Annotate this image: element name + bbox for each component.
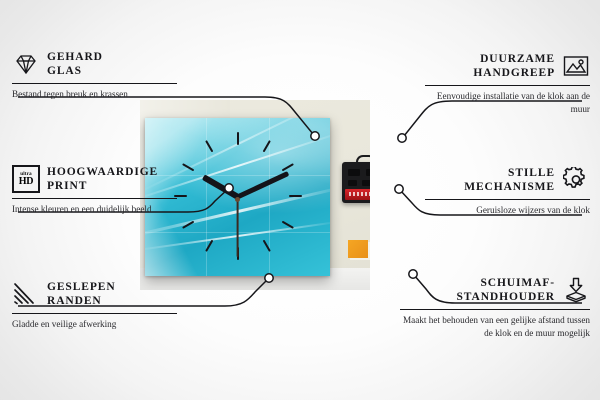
feature-geslepen-randen[interactable]: GESLEPENRANDEN Gladde en veilige afwerki… — [12, 280, 177, 331]
feature-title: GEHARDGLAS — [47, 50, 103, 79]
divider — [425, 199, 590, 200]
ultra-hd-icon: ultraHD — [12, 165, 40, 193]
feature-title: STILLEMECHANISME — [464, 166, 555, 195]
divider — [425, 85, 590, 86]
hanger-loop-icon — [356, 155, 370, 166]
feature-description: Eenvoudige installatie van de klok aan d… — [425, 90, 590, 115]
feature-description: Maakt het behouden van een gelijke afsta… — [400, 314, 590, 339]
divider — [12, 198, 177, 199]
feature-gehard-glas[interactable]: GEHARDGLAS Bestand tegen breuk en krasse… — [12, 50, 177, 101]
feature-description: Intense kleuren en een duidelijk beeld — [12, 203, 177, 215]
clock-movement — [342, 162, 370, 203]
feature-duurzame-handgreep[interactable]: DUURZAMEHANDGREEP Eenvoudige installatie… — [425, 52, 590, 115]
feature-title: DUURZAMEHANDGREEP — [473, 52, 555, 81]
feature-description: Gladde en veilige afwerking — [12, 318, 177, 330]
divider — [400, 309, 590, 310]
divider — [12, 83, 177, 84]
battery — [345, 189, 370, 200]
feature-title: HOOGWAARDIGEPRINT — [47, 165, 158, 194]
feature-description: Geruisloze wijzers van de klok — [425, 204, 590, 216]
foam-spacer-icon — [562, 276, 590, 304]
feature-title: GESLEPENRANDEN — [47, 280, 116, 309]
feature-stille-mechanisme[interactable]: STILLEMECHANISME Geruisloze wijzers van … — [425, 166, 590, 217]
bevelled-edge-icon — [12, 280, 40, 308]
feature-description: Bestand tegen breuk en krassen — [12, 88, 177, 100]
foam-spacer — [348, 240, 368, 258]
hand-cap — [235, 197, 240, 202]
framed-picture-icon — [562, 52, 590, 80]
feature-title: SCHUIMAF-STANDHOUDER — [456, 276, 555, 305]
infographic-canvas: GEHARDGLAS Bestand tegen breuk en krasse… — [0, 0, 600, 400]
gear-icon — [562, 166, 590, 194]
divider — [12, 313, 177, 314]
feature-hoogwaardige-print[interactable]: ultraHD HOOGWAARDIGEPRINT Intense kleure… — [12, 165, 177, 216]
second-hand — [237, 197, 239, 257]
feature-schuimafstandhouder[interactable]: SCHUIMAF-STANDHOUDER Maakt het behouden … — [400, 276, 590, 339]
diamond-icon — [12, 50, 40, 78]
